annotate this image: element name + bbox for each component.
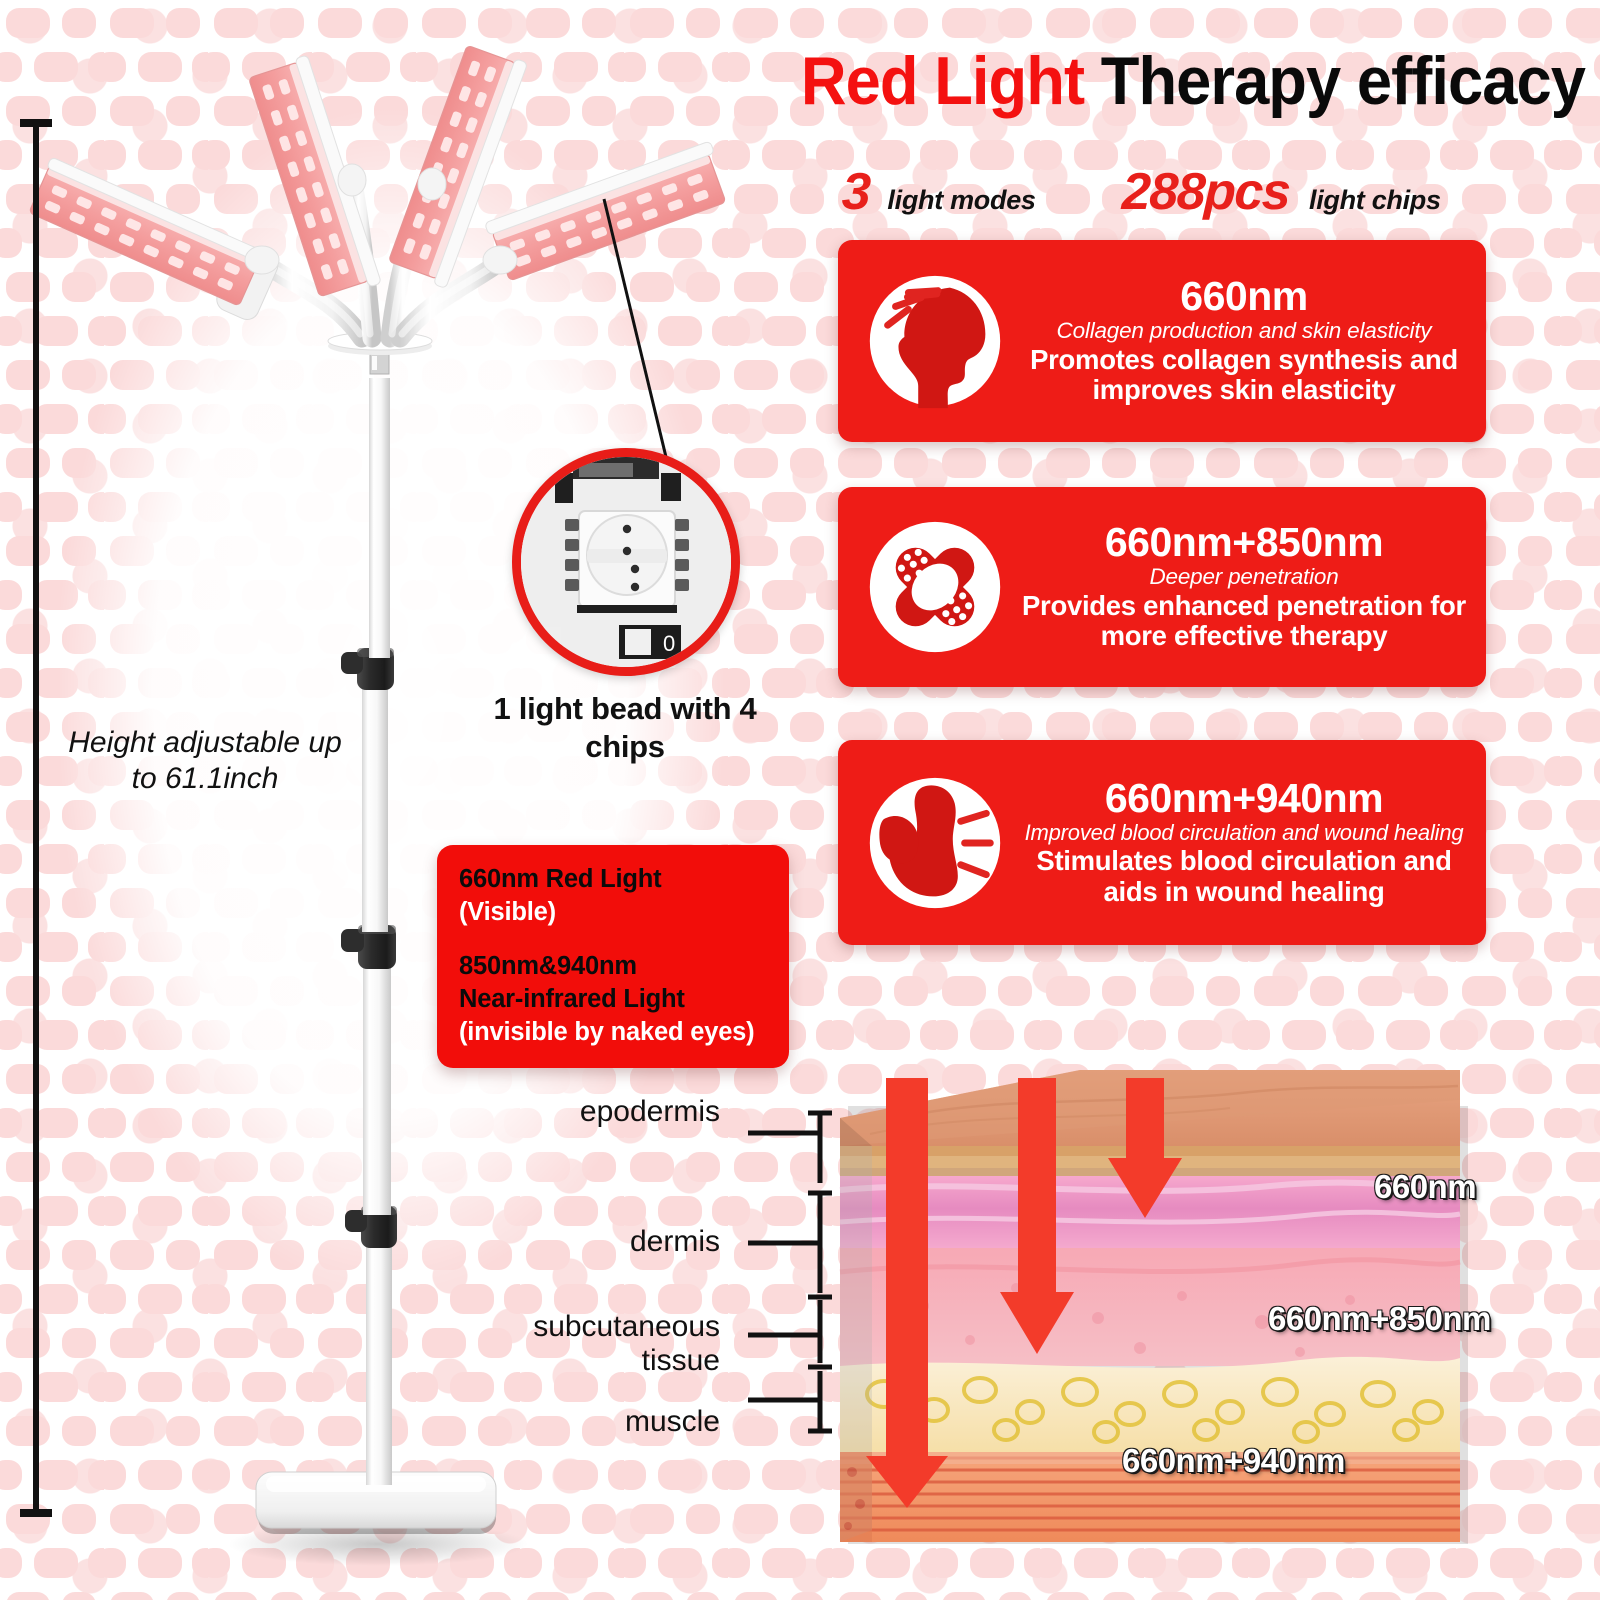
wave-line-4: Near-infrared Light xyxy=(459,983,789,1016)
wave-line-2: (Visible) xyxy=(459,896,789,929)
feature-card-660nm: 660nm Collagen production and skin elast… xyxy=(838,240,1486,442)
card-body: Provides enhanced penetration for more e… xyxy=(1018,591,1470,652)
depth-label-660nm-850nm: 660nm+850nm xyxy=(1268,1300,1491,1338)
height-dimension-line xyxy=(18,118,54,1518)
title-black-part: Therapy efficacy xyxy=(1101,43,1585,119)
depth-label-660nm-940nm: 660nm+940nm xyxy=(1122,1442,1345,1480)
card-subtitle: Improved blood circulation and wound hea… xyxy=(1018,821,1470,844)
card-heading: 660nm xyxy=(1018,276,1470,318)
card-body: Stimulates blood circulation and aids in… xyxy=(1018,846,1470,907)
skin-label-subcutaneous-tissue: subcutaneous tissue xyxy=(480,1310,720,1377)
light-chips-count: 288pcs xyxy=(1121,162,1290,222)
skin-label-epodermis: epodermis xyxy=(580,1095,720,1128)
card-heading: 660nm+940nm xyxy=(1018,778,1470,820)
bandage-cross-icon xyxy=(856,508,1014,666)
light-modes-label: light modes xyxy=(887,185,1035,216)
led-head-far-left xyxy=(23,157,282,323)
height-adjustable-note: Height adjustable up to 61.1inch xyxy=(60,725,350,797)
card-body: Promotes collagen synthesis and improves… xyxy=(1018,345,1470,406)
light-bead-caption: 1 light bead with 4 chips xyxy=(460,690,790,766)
bead-leader-line xyxy=(600,195,710,465)
wave-line-3: 850nm&940nm xyxy=(459,950,789,983)
light-modes-count: 3 xyxy=(841,162,871,222)
wave-line-5: (invisible by naked eyes) xyxy=(459,1016,789,1049)
skin-layer-labels: epodermis dermis subcutaneous tissue mus… xyxy=(520,1095,820,1495)
light-chips-label: light chips xyxy=(1309,185,1441,216)
feature-card-660nm-850nm: 660nm+850nm Deeper penetration Provides … xyxy=(838,487,1486,687)
face-profile-icon xyxy=(856,262,1014,420)
card-subtitle: Collagen production and skin elasticity xyxy=(1018,319,1470,343)
feature-card-660nm-940nm: 660nm+940nm Improved blood circulation a… xyxy=(838,740,1486,945)
page-title: Red Light Therapy efficacy xyxy=(646,47,1585,115)
card-heading: 660nm+850nm xyxy=(1018,522,1470,564)
card-text-block: 660nm Collagen production and skin elast… xyxy=(1014,276,1472,405)
light-bead-closeup: 0 xyxy=(512,448,740,676)
wavelength-info-box: 660nm Red Light (Visible) 850nm&940nm Ne… xyxy=(437,845,789,1068)
title-red-part: Red Light xyxy=(801,43,1084,119)
svg-text:0: 0 xyxy=(663,631,675,656)
skin-label-dermis: dermis xyxy=(630,1225,720,1258)
spec-row: 3 light modes 288pcs light chips xyxy=(830,162,1590,224)
card-text-block: 660nm+850nm Deeper penetration Provides … xyxy=(1014,522,1472,651)
flexed-bicep-icon xyxy=(856,764,1014,922)
skin-label-muscle: muscle xyxy=(625,1405,720,1438)
card-text-block: 660nm+940nm Improved blood circulation a… xyxy=(1014,778,1472,907)
wave-line-1: 660nm Red Light xyxy=(459,863,789,896)
depth-label-660nm: 660nm xyxy=(1374,1168,1476,1206)
card-subtitle: Deeper penetration xyxy=(1018,565,1470,589)
